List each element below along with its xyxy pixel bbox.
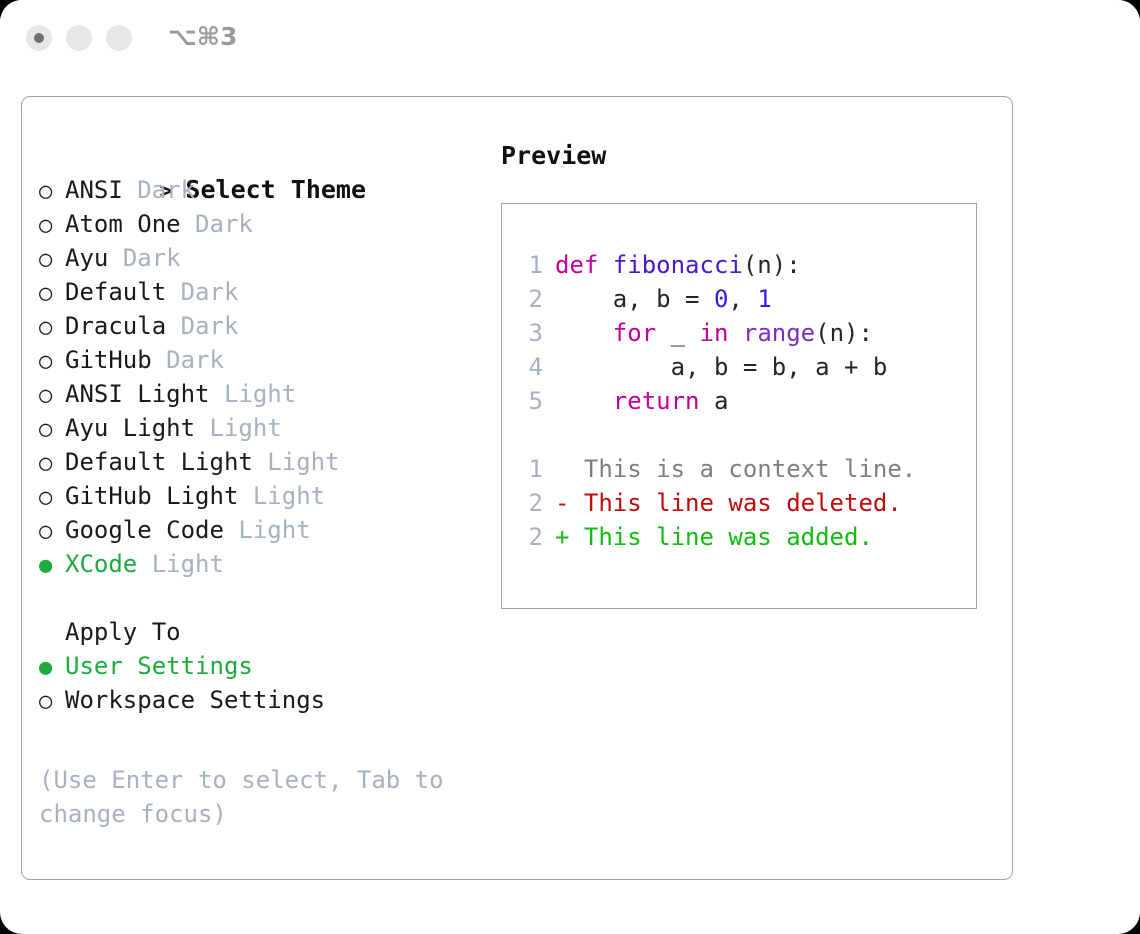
radio-unselected-icon: ○ <box>39 447 65 481</box>
title-bar: ⌥⌘3 <box>0 0 1140 76</box>
window-dot-active-icon[interactable] <box>26 25 52 51</box>
theme-option-dracula[interactable]: ○Dracula Dark <box>39 309 479 343</box>
code-line-number: 1 <box>517 248 543 282</box>
theme-option-kind: Dark <box>123 244 181 272</box>
apply-to-title: Apply To <box>39 615 479 649</box>
label-space <box>108 244 122 272</box>
radio-unselected-icon: ○ <box>39 379 65 413</box>
theme-option-kind: Light <box>210 414 282 442</box>
code-token-num: 0 <box>714 285 728 313</box>
apply-to-option-label: Workspace Settings <box>65 686 325 714</box>
theme-option-label: ANSI Light <box>65 380 210 408</box>
preview-column: Preview 1def fibonacci(n):2 a, b = 0, 13… <box>501 139 991 173</box>
code-line: 3 for _ in range(n): <box>517 316 968 350</box>
code-line: 5 return a <box>517 384 968 418</box>
theme-option-kind: Dark <box>181 312 239 340</box>
theme-option-xcode[interactable]: ●XCode Light <box>39 547 479 581</box>
theme-option-label: Default <box>65 278 166 306</box>
theme-option-github-light[interactable]: ○GitHub Light Light <box>39 479 479 513</box>
radio-unselected-icon: ○ <box>39 481 65 515</box>
code-line-number: 3 <box>517 316 543 350</box>
diff-line: 2+ This line was added. <box>517 520 968 554</box>
radio-unselected-icon: ○ <box>39 413 65 447</box>
theme-option-label: GitHub <box>65 346 152 374</box>
code-blank-line <box>517 418 968 452</box>
code-token-kw: in <box>700 319 729 347</box>
diff-gap <box>569 489 583 517</box>
radio-unselected-icon: ○ <box>39 175 65 209</box>
code-line-number: 4 <box>517 350 543 384</box>
theme-option-ansi-light[interactable]: ○ANSI Light Light <box>39 377 479 411</box>
theme-option-label: Google Code <box>65 516 224 544</box>
code-sample: 1def fibonacci(n):2 a, b = 0, 13 for _ i… <box>517 248 968 418</box>
label-space <box>238 482 252 510</box>
diff-gap <box>569 455 583 483</box>
label-space <box>253 448 267 476</box>
theme-option-label: ANSI <box>65 176 123 204</box>
radio-unselected-icon: ○ <box>39 277 65 311</box>
code-token-plain <box>728 319 742 347</box>
diff-sign: - <box>555 489 569 517</box>
theme-option-google-code[interactable]: ○Google Code Light <box>39 513 479 547</box>
radio-selected-icon: ● <box>39 549 65 583</box>
code-token-kw: for <box>613 319 656 347</box>
preview-box: 1def fibonacci(n):2 a, b = 0, 13 for _ i… <box>501 203 977 609</box>
code-token-plain <box>555 319 613 347</box>
code-token-fn: fibonacci <box>613 251 743 279</box>
code-token-plain: a <box>700 387 729 415</box>
theme-option-atom-one[interactable]: ○Atom One Dark <box>39 207 479 241</box>
code-line: 4 a, b = b, a + b <box>517 350 968 384</box>
radio-unselected-icon: ○ <box>39 311 65 345</box>
label-space <box>210 380 224 408</box>
theme-option-label: Ayu <box>65 244 108 272</box>
theme-option-label: Default Light <box>65 448 253 476</box>
code-token-plain: a, b = b, a + b <box>555 353 887 381</box>
theme-option-label: Ayu Light <box>65 414 195 442</box>
label-space <box>152 346 166 374</box>
radio-unselected-icon: ○ <box>39 243 65 277</box>
preview-title: Preview <box>501 139 991 173</box>
code-token-num: 1 <box>757 285 771 313</box>
theme-option-label: Atom One <box>65 210 181 238</box>
keyboard-shortcut-label: ⌥⌘3 <box>168 22 237 51</box>
diff-line-text: This line was added. <box>584 523 873 551</box>
code-line: 2 a, b = 0, 1 <box>517 282 968 316</box>
code-preview: 1def fibonacci(n):2 a, b = 0, 13 for _ i… <box>517 248 968 554</box>
window-dot-icon-2[interactable] <box>66 25 92 51</box>
label-space <box>224 516 238 544</box>
code-token-kw: def <box>555 251 598 279</box>
label-space <box>166 312 180 340</box>
diff-line: 1 This is a context line. <box>517 452 968 486</box>
code-line: 1def fibonacci(n): <box>517 248 968 282</box>
code-token-plain: , <box>728 285 757 313</box>
diff-sign: + <box>555 523 569 551</box>
diff-sign <box>555 455 569 483</box>
code-token-cls: range <box>743 319 815 347</box>
theme-list-header-label: Select Theme <box>185 175 366 204</box>
theme-option-label: GitHub Light <box>65 482 238 510</box>
code-token-plain <box>598 251 612 279</box>
theme-option-kind: Light <box>152 550 224 578</box>
radio-unselected-icon: ○ <box>39 209 65 243</box>
theme-option-default-light[interactable]: ○Default Light Light <box>39 445 479 479</box>
code-line-number: 2 <box>517 282 543 316</box>
diff-line-text: This is a context line. <box>584 455 916 483</box>
radio-unselected-icon: ○ <box>39 685 65 719</box>
diff-line-number: 2 <box>517 486 543 520</box>
theme-option-default[interactable]: ○Default Dark <box>39 275 479 309</box>
theme-option-kind: Dark <box>181 278 239 306</box>
theme-option-kind: Light <box>224 380 296 408</box>
theme-option-label: Dracula <box>65 312 166 340</box>
code-line-number: 5 <box>517 384 543 418</box>
code-token-kw: return <box>613 387 700 415</box>
theme-list: >Select Theme ○ANSI Dark○Atom One Dark○A… <box>39 139 479 717</box>
theme-option-kind: Dark <box>137 176 195 204</box>
label-space <box>137 550 151 578</box>
apply-to-option-workspace-settings[interactable]: ○Workspace Settings <box>39 683 479 717</box>
label-space <box>123 176 137 204</box>
diff-line-text: This line was deleted. <box>584 489 902 517</box>
code-token-plain: (n): <box>743 251 801 279</box>
label-space <box>195 414 209 442</box>
theme-selector-panel: >Select Theme ○ANSI Dark○Atom One Dark○A… <box>21 96 1013 880</box>
diff-line-number: 2 <box>517 520 543 554</box>
theme-option-kind: Dark <box>166 346 224 374</box>
theme-option-label: XCode <box>65 550 137 578</box>
theme-list-header: >Select Theme <box>39 139 479 173</box>
radio-selected-icon: ● <box>39 651 65 685</box>
label-space <box>181 210 195 238</box>
apply-to-option-label: User Settings <box>65 652 253 680</box>
code-token-plain: (n): <box>815 319 873 347</box>
diff-gap <box>569 523 583 551</box>
apply-to-options: ●User Settings○Workspace Settings <box>39 649 479 717</box>
theme-option-kind: Dark <box>195 210 253 238</box>
code-token-plain <box>555 387 613 415</box>
theme-option-github[interactable]: ○GitHub Dark <box>39 343 479 377</box>
list-spacer <box>39 581 479 615</box>
theme-option-kind: Light <box>253 482 325 510</box>
theme-options: ○ANSI Dark○Atom One Dark○Ayu Dark○Defaul… <box>39 173 479 581</box>
theme-option-kind: Light <box>238 516 310 544</box>
window-dot-icon-3[interactable] <box>106 25 132 51</box>
theme-option-ayu[interactable]: ○Ayu Dark <box>39 241 479 275</box>
code-token-plain: a, b = <box>555 285 714 313</box>
app-window: ⌥⌘3 >Select Theme ○ANSI Dark○Atom One Da… <box>0 0 1140 934</box>
diff-sample: 1 This is a context line.2- This line wa… <box>517 452 968 554</box>
radio-unselected-icon: ○ <box>39 515 65 549</box>
radio-unselected-icon: ○ <box>39 345 65 379</box>
diff-line-number: 1 <box>517 452 543 486</box>
window-dot-active-inner <box>34 33 44 43</box>
theme-option-kind: Light <box>267 448 339 476</box>
apply-to-option-user-settings[interactable]: ●User Settings <box>39 649 479 683</box>
label-space <box>166 278 180 306</box>
diff-line: 2- This line was deleted. <box>517 486 968 520</box>
theme-option-ayu-light[interactable]: ○Ayu Light Light <box>39 411 479 445</box>
keyboard-hint-text: (Use Enter to select, Tab to change focu… <box>39 763 459 831</box>
code-token-plain: _ <box>656 319 699 347</box>
